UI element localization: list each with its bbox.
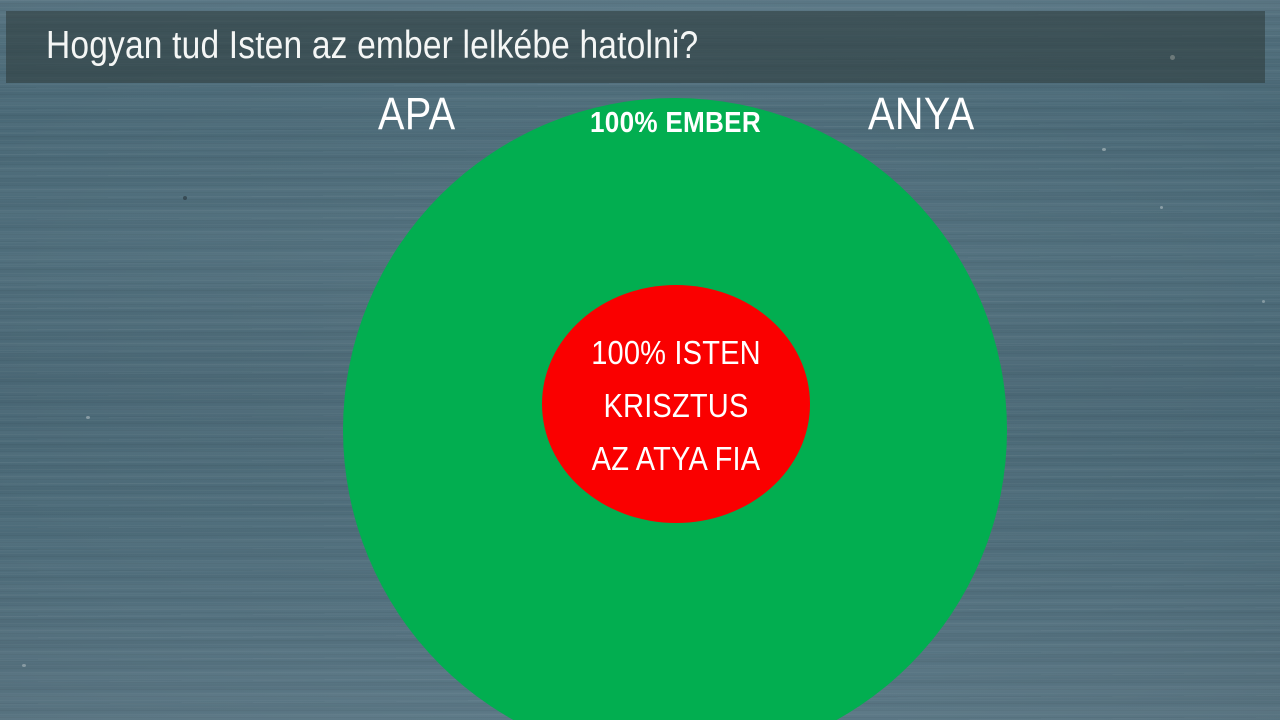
label-anya: ANYA: [868, 88, 975, 140]
inner-line-1: 100% ISTEN: [558, 326, 794, 379]
inner-line-2: KRISZTUS: [558, 379, 794, 432]
label-apa: APA: [378, 88, 456, 140]
page-title: Hogyan tud Isten az ember lelkébe hatoln…: [46, 20, 698, 72]
slide-canvas: Hogyan tud Isten az ember lelkébe hatoln…: [0, 0, 1280, 720]
inner-ellipse-text: 100% ISTEN KRISZTUS AZ ATYA FIA: [542, 326, 810, 485]
label-outer-circle: 100% EMBER: [590, 107, 761, 140]
title-band: Hogyan tud Isten az ember lelkébe hatoln…: [6, 11, 1265, 83]
inner-line-3: AZ ATYA FIA: [558, 432, 794, 485]
